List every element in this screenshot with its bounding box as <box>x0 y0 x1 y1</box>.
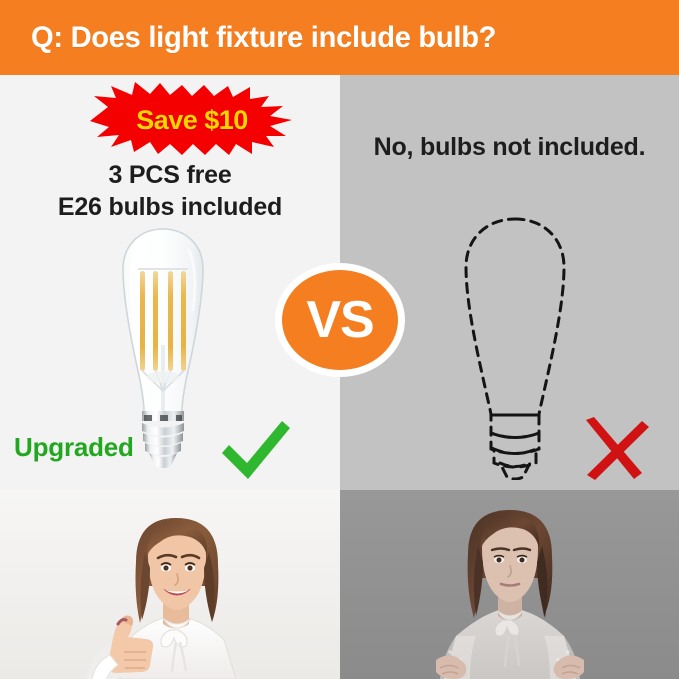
photo-strip <box>0 490 679 679</box>
right-headline: No, bulbs not included. <box>340 133 679 162</box>
versus-badge: VS <box>273 261 407 379</box>
missing-bulb-outline-icon <box>450 215 580 480</box>
ghost-bulb-glass <box>466 219 564 415</box>
left-headline-line2: E26 bulbs included <box>0 191 340 223</box>
bulb-screw-threads <box>142 423 184 455</box>
disappointed-customer-illustration <box>340 490 679 679</box>
save-badge: Save $10 <box>78 80 306 158</box>
left-headline: 3 PCS free E26 bulbs included <box>0 159 340 223</box>
save-badge-label: Save $10 <box>78 80 306 159</box>
check-icon <box>218 415 294 485</box>
filament <box>153 271 158 371</box>
bulb-base-tip <box>149 453 177 468</box>
filament <box>140 271 145 371</box>
versus-badge-label: VS <box>273 261 407 379</box>
header-banner: Q: Does light fixture include bulb? <box>0 0 679 75</box>
filament <box>168 271 173 371</box>
ghost-base-tip <box>500 463 530 479</box>
happy-customer-illustration <box>0 490 340 679</box>
comparison-area: Save $10 3 PCS free E26 bulbs included <box>0 75 679 490</box>
upgraded-label: Upgraded <box>14 432 134 463</box>
filament <box>181 271 186 371</box>
left-headline-line1: 3 PCS free <box>0 159 340 191</box>
photo-happy-customer <box>0 490 340 679</box>
photo-disappointed-customer <box>340 490 679 679</box>
header-question-text: Q: Does light fixture include bulb? <box>0 21 496 55</box>
product-comparison-infographic: Q: Does light fixture include bulb? Save… <box>0 0 679 679</box>
cross-icon <box>578 415 650 483</box>
